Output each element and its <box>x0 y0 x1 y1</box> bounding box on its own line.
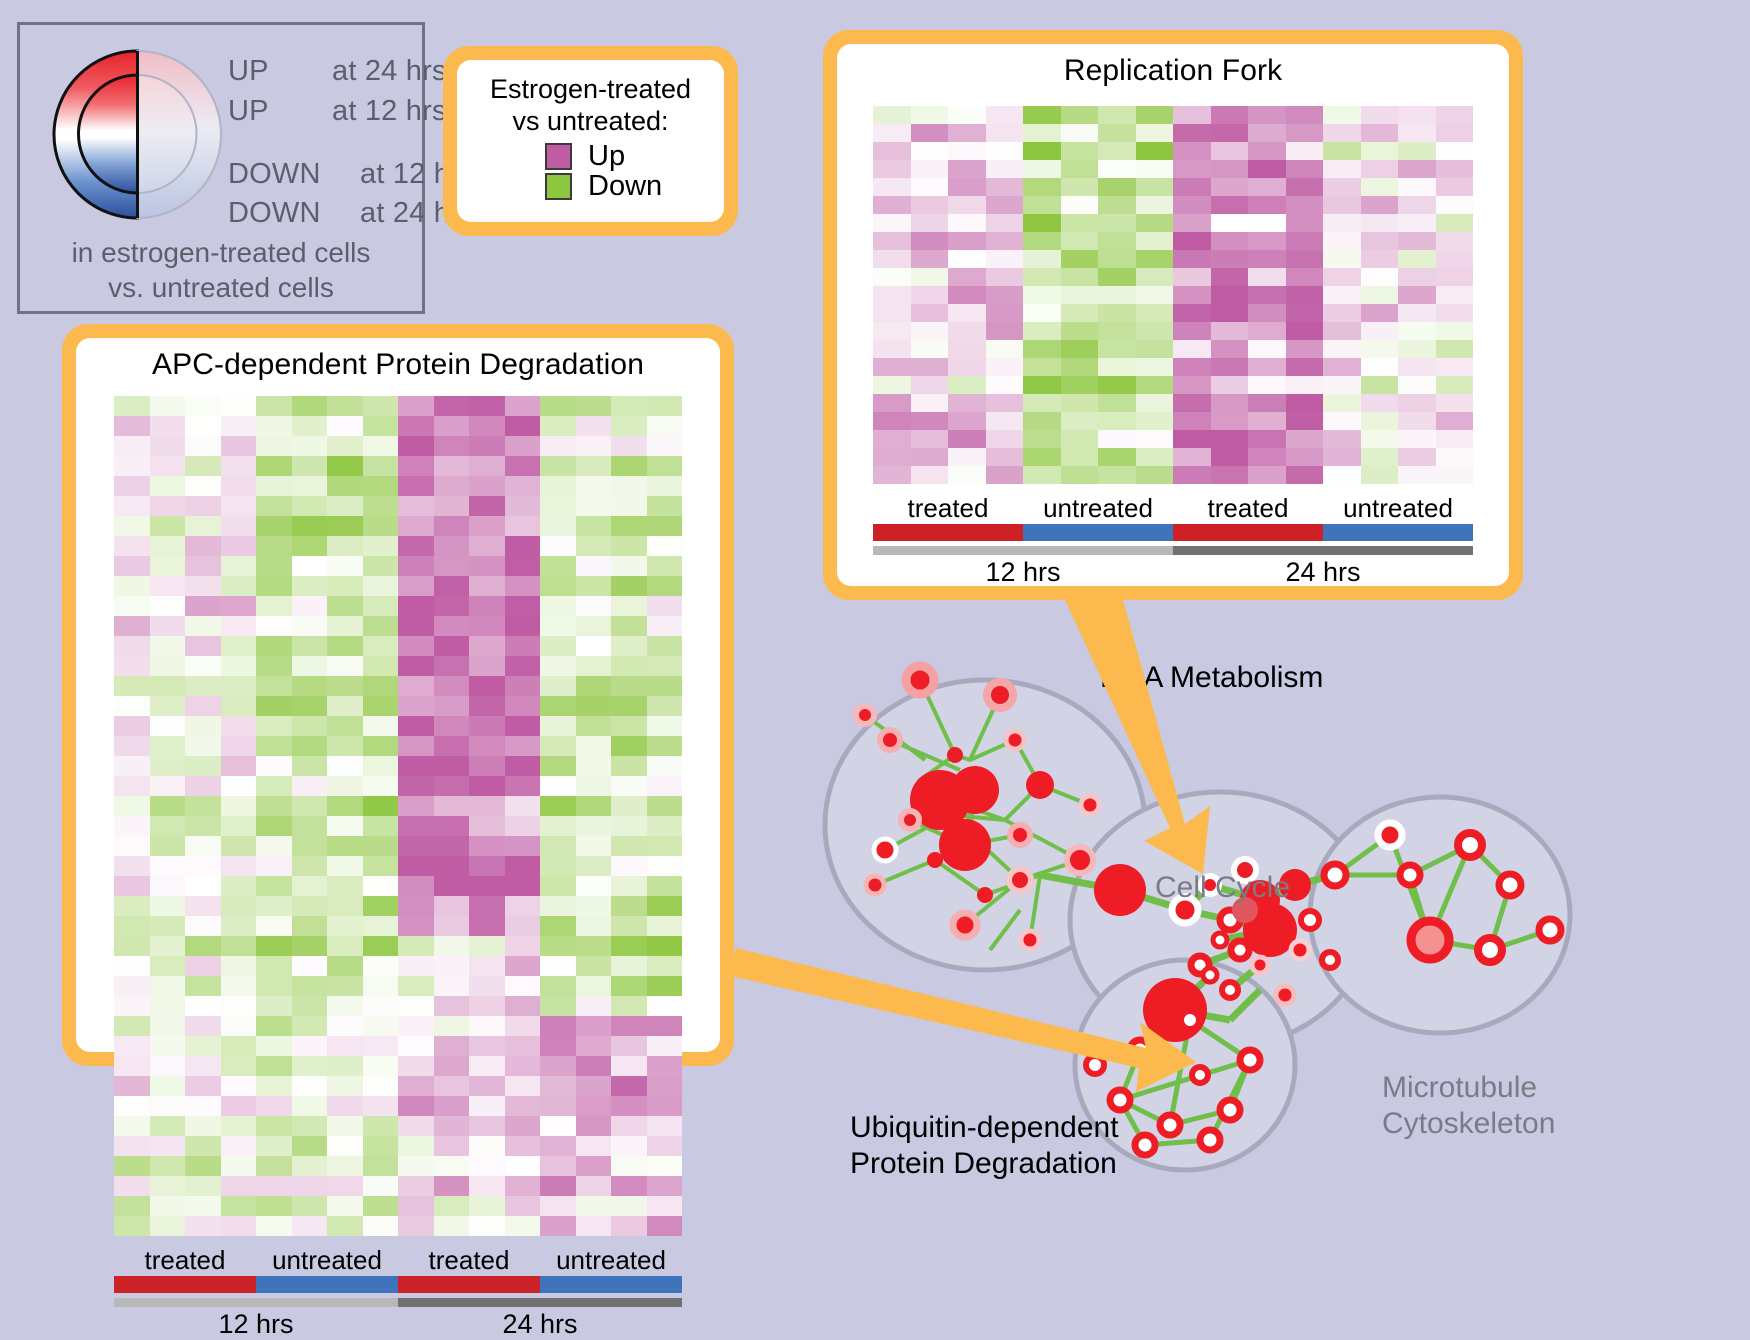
heatmap-cell <box>221 536 257 556</box>
heatmap-cell <box>1286 232 1324 250</box>
heatmap-cell <box>469 776 505 796</box>
heatmap-cell <box>1023 232 1061 250</box>
heatmap-cell <box>327 476 363 496</box>
heatmap-cell <box>221 856 257 876</box>
heatmap-cell <box>873 124 911 142</box>
heatmap-cell <box>911 232 949 250</box>
heatmap-cell <box>1136 160 1174 178</box>
heatmap-cell <box>647 396 683 416</box>
cluster-label-cell-cycle: Cell Cycle <box>1155 870 1290 906</box>
heatmap-cell <box>1323 214 1361 232</box>
heatmap-cell <box>1211 394 1249 412</box>
heatmap-cell <box>221 436 257 456</box>
heatmap-cell <box>185 1116 221 1136</box>
heatmap-cell <box>1098 358 1136 376</box>
heatmap-cell <box>1173 304 1211 322</box>
heatmap-cell <box>327 1216 363 1236</box>
heatmap-cell <box>1136 412 1174 430</box>
heatmap-cell <box>398 436 434 456</box>
heatmap-cell <box>1023 178 1061 196</box>
heatmap-cell <box>363 1156 399 1176</box>
heatmap-cell <box>469 1036 505 1056</box>
heatmap-cell <box>434 996 470 1016</box>
heatmap-cell <box>647 576 683 596</box>
expression-colour-key: UP at 24 hrs UP at 12 hrs DOWN at 12 hrs… <box>17 22 425 314</box>
heatmap-cell <box>185 896 221 916</box>
heatmap-cell <box>1248 412 1286 430</box>
heatmap-cell <box>540 456 576 476</box>
heatmap-cell <box>611 1156 647 1176</box>
heatmap-cell <box>1286 178 1324 196</box>
heatmap-cell <box>1436 124 1474 142</box>
heatmap-cell <box>1211 232 1249 250</box>
heatmap-cell <box>611 1096 647 1116</box>
heatmap-cell <box>256 636 292 656</box>
heatmap-cell <box>505 1176 541 1196</box>
heatmap-cell <box>1361 250 1399 268</box>
heatmap-cell <box>185 1096 221 1116</box>
replication-fork-time-bar <box>873 546 1473 555</box>
heatmap-cell <box>398 656 434 676</box>
heatmap-cell <box>363 656 399 676</box>
heatmap-cell <box>469 1116 505 1136</box>
heatmap-cell <box>185 876 221 896</box>
heatmap-cell <box>1023 142 1061 160</box>
time-label: 24 hrs <box>398 1309 682 1340</box>
heatmap-cell <box>611 1116 647 1136</box>
heatmap-cell <box>327 496 363 516</box>
heatmap-cell <box>611 496 647 516</box>
heatmap-cell <box>505 476 541 496</box>
heatmap-cell <box>1023 106 1061 124</box>
heatmap-cell <box>1323 142 1361 160</box>
heatmap-cell <box>647 816 683 836</box>
time-label: 12 hrs <box>114 1309 398 1340</box>
heatmap-cell <box>185 976 221 996</box>
heatmap-cell <box>948 358 986 376</box>
heatmap-cell <box>434 616 470 636</box>
heatmap-cell <box>948 304 986 322</box>
heatmap-cell <box>363 616 399 636</box>
heatmap-cell <box>221 756 257 776</box>
heatmap-cell <box>986 232 1024 250</box>
heatmap-cell <box>576 476 612 496</box>
heatmap-cell <box>611 756 647 776</box>
heatmap-cell <box>540 896 576 916</box>
heatmap-cell <box>1286 376 1324 394</box>
heatmap-cell <box>114 916 150 936</box>
heatmap-cell <box>363 1216 399 1236</box>
heatmap-cell <box>434 596 470 616</box>
heatmap-cell <box>1323 394 1361 412</box>
heatmap-cell <box>1173 466 1211 484</box>
heatmap-cell <box>185 1216 221 1236</box>
heatmap-cell <box>398 676 434 696</box>
heatmap-cell <box>150 556 186 576</box>
heatmap-cell <box>398 956 434 976</box>
heatmap-cell <box>611 876 647 896</box>
heatmap-cell <box>1211 376 1249 394</box>
heatmap-cell <box>256 496 292 516</box>
heatmap-cell <box>434 896 470 916</box>
heatmap-cell <box>1248 358 1286 376</box>
heatmap-cell <box>114 556 150 576</box>
heatmap-cell <box>150 1036 186 1056</box>
heatmap-cell <box>363 756 399 776</box>
heatmap-cell <box>611 656 647 676</box>
heatmap-cell <box>505 516 541 536</box>
heatmap-cell <box>469 716 505 736</box>
heatmap-cell <box>221 876 257 896</box>
heatmap-cell <box>150 1156 186 1176</box>
heatmap-cell <box>611 1076 647 1096</box>
heatmap-cell <box>1136 358 1174 376</box>
apc-degradation-panel: APC-dependent Protein Degradation treate… <box>62 324 734 1066</box>
heatmap-cell <box>1136 304 1174 322</box>
heatmap-cell <box>256 1096 292 1116</box>
heatmap-cell <box>292 1056 328 1076</box>
heatmap-cell <box>398 796 434 816</box>
heatmap-cell <box>911 412 949 430</box>
heatmap-cell <box>1436 250 1474 268</box>
heatmap-cell <box>1173 430 1211 448</box>
replication-fork-panel: Replication Fork treated untreated treat… <box>823 30 1523 600</box>
heatmap-cell <box>540 556 576 576</box>
heatmap-cell <box>576 1196 612 1216</box>
heatmap-cell <box>1286 250 1324 268</box>
heatmap-cell <box>221 1216 257 1236</box>
heatmap-cell <box>1023 196 1061 214</box>
heatmap-cell <box>469 736 505 756</box>
heatmap-cell <box>221 1016 257 1036</box>
heatmap-cell <box>1173 358 1211 376</box>
heatmap-cell <box>1323 232 1361 250</box>
heatmap-cell <box>221 516 257 536</box>
heatmap-cell <box>256 976 292 996</box>
heatmap-cell <box>327 936 363 956</box>
heatmap-cell <box>292 756 328 776</box>
condition-label: untreated <box>1323 493 1473 524</box>
heatmap-cell <box>398 736 434 756</box>
heatmap-cell <box>256 896 292 916</box>
heatmap-cell <box>221 776 257 796</box>
heatmap-cell <box>292 456 328 476</box>
heatmap-cell <box>576 1016 612 1036</box>
heatmap-cell <box>185 656 221 676</box>
heatmap-cell <box>647 1016 683 1036</box>
heatmap-cell <box>327 696 363 716</box>
heatmap-cell <box>469 856 505 876</box>
heatmap-cell <box>1436 430 1474 448</box>
heatmap-cell <box>114 936 150 956</box>
heatmap-cell <box>1098 250 1136 268</box>
heatmap-cell <box>1436 178 1474 196</box>
heatmap-cell <box>114 776 150 796</box>
heatmap-cell <box>1211 106 1249 124</box>
heatmap-cell <box>150 496 186 516</box>
heatmap-cell <box>1211 466 1249 484</box>
heatmap-cell <box>221 716 257 736</box>
heatmap-cell <box>1398 178 1436 196</box>
heatmap-cell <box>398 936 434 956</box>
heatmap-cell <box>256 756 292 776</box>
heatmap-cell <box>150 456 186 476</box>
heatmap-cell <box>327 756 363 776</box>
heatmap-cell <box>647 1156 683 1176</box>
heatmap-cell <box>647 756 683 776</box>
heatmap-cell <box>398 1056 434 1076</box>
heatmap-cell <box>1098 340 1136 358</box>
heatmap-cell <box>150 576 186 596</box>
condition-label: untreated <box>1023 493 1173 524</box>
heatmap-cell <box>185 456 221 476</box>
heatmap-cell <box>327 516 363 536</box>
heatmap-cell <box>647 896 683 916</box>
down-colour-swatch <box>545 173 572 200</box>
heatmap-cell <box>150 836 186 856</box>
heatmap-cell <box>505 836 541 856</box>
heatmap-cell <box>221 916 257 936</box>
heatmap-cell <box>1398 448 1436 466</box>
heatmap-cell <box>434 476 470 496</box>
heatmap-cell <box>114 476 150 496</box>
heatmap-cell <box>150 1016 186 1036</box>
heatmap-cell <box>986 214 1024 232</box>
heatmap-cell <box>469 676 505 696</box>
heatmap-cell <box>505 1216 541 1236</box>
time-bar-segment <box>1173 546 1473 555</box>
heatmap-cell <box>1361 376 1399 394</box>
heatmap-cell <box>185 1076 221 1096</box>
heatmap-cell <box>185 496 221 516</box>
heatmap-cell <box>1323 250 1361 268</box>
heatmap-cell <box>1173 214 1211 232</box>
heatmap-cell <box>647 636 683 656</box>
heatmap-cell <box>185 856 221 876</box>
heatmap-cell <box>221 1156 257 1176</box>
heatmap-cell <box>221 456 257 476</box>
heatmap-cell <box>469 936 505 956</box>
heatmap-cell <box>873 268 911 286</box>
heatmap-cell <box>948 268 986 286</box>
heatmap-cell <box>1248 466 1286 484</box>
heatmap-cell <box>292 616 328 636</box>
heatmap-cell <box>1136 448 1174 466</box>
heatmap-cell <box>948 430 986 448</box>
heatmap-cell <box>221 1116 257 1136</box>
heatmap-cell <box>327 616 363 636</box>
heatmap-cell <box>1286 430 1324 448</box>
heatmap-cell <box>469 436 505 456</box>
heatmap-cell <box>576 976 612 996</box>
heatmap-cell <box>505 1156 541 1176</box>
legend-title-line2: vs untreated: <box>467 106 714 138</box>
heatmap-cell <box>911 430 949 448</box>
heatmap-cell <box>505 936 541 956</box>
heatmap-cell <box>1098 214 1136 232</box>
heatmap-cell <box>611 556 647 576</box>
heatmap-cell <box>647 776 683 796</box>
heatmap-cell <box>469 536 505 556</box>
heatmap-cell <box>256 616 292 636</box>
heatmap-cell <box>948 322 986 340</box>
heatmap-cell <box>150 536 186 556</box>
heatmap-cell <box>434 676 470 696</box>
heatmap-cell <box>150 976 186 996</box>
heatmap-cell <box>114 1096 150 1116</box>
heatmap-cell <box>363 696 399 716</box>
heatmap-cell <box>292 696 328 716</box>
heatmap-cell <box>1436 232 1474 250</box>
heatmap-cell <box>363 636 399 656</box>
heatmap-cell <box>150 956 186 976</box>
heatmap-cell <box>1136 322 1174 340</box>
heatmap-cell <box>1398 232 1436 250</box>
heatmap-cell <box>1248 376 1286 394</box>
heatmap-cell <box>873 340 911 358</box>
heatmap-cell <box>434 956 470 976</box>
heatmap-cell <box>1286 160 1324 178</box>
heatmap-cell <box>873 430 911 448</box>
heatmap-cell <box>114 496 150 516</box>
heatmap-cell <box>1173 142 1211 160</box>
heatmap-cell <box>363 396 399 416</box>
heatmap-cell <box>1361 178 1399 196</box>
heatmap-cell <box>114 736 150 756</box>
heatmap-cell <box>327 856 363 876</box>
heatmap-cell <box>1286 106 1324 124</box>
heatmap-cell <box>873 286 911 304</box>
heatmap-cell <box>576 696 612 716</box>
heatmap-cell <box>150 736 186 756</box>
heatmap-cell <box>363 956 399 976</box>
heatmap-cell <box>576 1036 612 1056</box>
heatmap-cell <box>434 876 470 896</box>
heatmap-cell <box>1023 394 1061 412</box>
heatmap-cell <box>611 936 647 956</box>
heatmap-cell <box>434 636 470 656</box>
heatmap-cell <box>948 214 986 232</box>
heatmap-cell <box>363 776 399 796</box>
heatmap-cell <box>434 1056 470 1076</box>
heatmap-cell <box>1398 160 1436 178</box>
heatmap-cell <box>1361 448 1399 466</box>
heatmap-cell <box>327 916 363 936</box>
heatmap-cell <box>911 106 949 124</box>
heatmap-cell <box>469 396 505 416</box>
heatmap-cell <box>221 576 257 596</box>
heatmap-cell <box>363 556 399 576</box>
heatmap-cell <box>185 956 221 976</box>
heatmap-cell <box>505 776 541 796</box>
heatmap-cell <box>1398 304 1436 322</box>
heatmap-cell <box>647 1216 683 1236</box>
heatmap-cell <box>327 676 363 696</box>
heatmap-cell <box>986 160 1024 178</box>
heatmap-cell <box>576 1096 612 1116</box>
heatmap-cell <box>221 1096 257 1116</box>
heatmap-cell <box>540 1036 576 1056</box>
heatmap-cell <box>185 476 221 496</box>
heatmap-cell <box>1248 430 1286 448</box>
heatmap-cell <box>1023 376 1061 394</box>
heatmap-cell <box>505 1136 541 1156</box>
heatmap-cell <box>505 696 541 716</box>
heatmap-cell <box>647 1176 683 1196</box>
heatmap-cell <box>1398 340 1436 358</box>
heatmap-cell <box>611 836 647 856</box>
heatmap-cell <box>185 616 221 636</box>
heatmap-cell <box>256 776 292 796</box>
heatmap-cell <box>363 516 399 536</box>
heatmap-cell <box>576 916 612 936</box>
heatmap-cell <box>185 996 221 1016</box>
heatmap-cell <box>363 416 399 436</box>
heatmap-cell <box>576 1076 612 1096</box>
heatmap-cell <box>1061 250 1099 268</box>
heatmap-cell <box>398 1076 434 1096</box>
replication-fork-title: Replication Fork <box>837 44 1509 88</box>
heatmap-cell <box>505 736 541 756</box>
heatmap-cell <box>1361 340 1399 358</box>
heatmap-cell <box>505 396 541 416</box>
heatmap-cell <box>647 676 683 696</box>
time-label: 24 hrs <box>1173 557 1473 588</box>
heatmap-cell <box>1098 322 1136 340</box>
heatmap-cell <box>150 916 186 936</box>
heatmap-cell <box>327 836 363 856</box>
heatmap-cell <box>469 456 505 476</box>
replication-fork-condition-bar <box>873 524 1473 541</box>
heatmap-cell <box>1361 196 1399 214</box>
heatmap-cell <box>292 496 328 516</box>
heatmap-cell <box>292 1116 328 1136</box>
heatmap-cell <box>986 466 1024 484</box>
heatmap-cell <box>434 1176 470 1196</box>
heatmap-cell <box>1211 196 1249 214</box>
heatmap-cell <box>292 1096 328 1116</box>
heatmap-cell <box>114 956 150 976</box>
heatmap-cell <box>363 856 399 876</box>
heatmap-cell <box>434 456 470 476</box>
heatmap-cell <box>576 676 612 696</box>
heatmap-cell <box>611 816 647 836</box>
heatmap-cell <box>1211 340 1249 358</box>
heatmap-cell <box>114 796 150 816</box>
heatmap-cell <box>256 396 292 416</box>
heatmap-cell <box>434 836 470 856</box>
heatmap-cell <box>1098 376 1136 394</box>
heatmap-cell <box>873 304 911 322</box>
heatmap-cell <box>611 916 647 936</box>
heatmap-cell <box>363 736 399 756</box>
heatmap-cell <box>611 736 647 756</box>
heatmap-cell <box>1436 358 1474 376</box>
heatmap-cell <box>1323 358 1361 376</box>
heatmap-cell <box>1361 358 1399 376</box>
heatmap-cell <box>540 676 576 696</box>
heatmap-cell <box>221 676 257 696</box>
heatmap-cell <box>1136 466 1174 484</box>
heatmap-cell <box>221 416 257 436</box>
heatmap-cell <box>1023 214 1061 232</box>
heatmap-cell <box>327 1016 363 1036</box>
up-down-ring-icon <box>50 47 225 222</box>
heatmap-cell <box>292 1016 328 1036</box>
heatmap-cell <box>185 776 221 796</box>
heatmap-cell <box>1211 358 1249 376</box>
cluster-label-line: Cell Cycle <box>1155 871 1290 904</box>
